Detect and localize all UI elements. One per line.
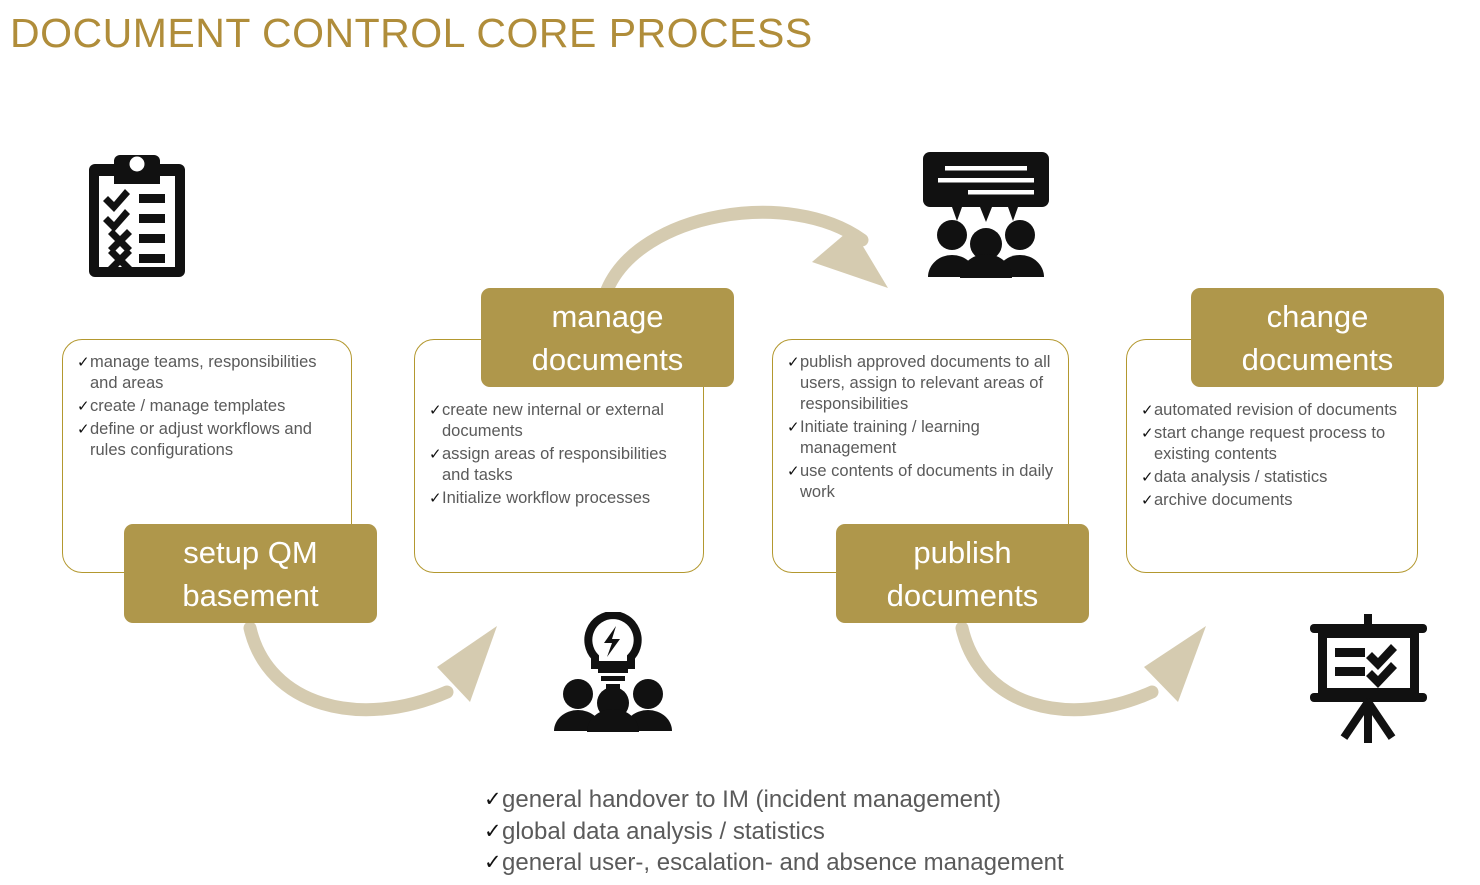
list-item-label: automated revision of documents [1154,401,1397,419]
list-item: ✓ define or adjust workflows and rules c… [77,419,341,461]
list-item: ✓ general user-, escalation- and absence… [484,847,1064,879]
check-icon: ✓ [1141,490,1154,511]
list-item: ✓ Initialize workflow processes [429,488,693,509]
stage-badge-publish-documents[interactable]: publish documents [836,524,1089,623]
list-item: ✓ general handover to IM (incident manag… [484,784,1064,816]
badge-label-line1: manage [532,295,684,338]
check-icon: ✓ [1141,423,1154,444]
list-item: ✓ start change request process to existi… [1141,423,1407,465]
list-item-label: use contents of documents in daily work [800,462,1053,501]
arrow-manage-to-publish [607,212,888,290]
clipboard-checklist-icon [86,150,188,280]
badge-label-line1: setup QM [182,531,318,574]
stage-badge-setup-qm-basement[interactable]: setup QM basement [124,524,377,623]
check-icon: ✓ [429,400,442,421]
arrow-publish-to-change [962,626,1206,710]
list-item-label: manage teams, responsibilities and areas [90,353,317,392]
stage-2-bullet-list: ✓ create new internal or external docume… [429,400,693,511]
list-item: ✓ automated revision of documents [1141,400,1407,421]
check-icon: ✓ [484,816,502,848]
check-icon: ✓ [429,444,442,465]
stage-badge-manage-documents[interactable]: manage documents [481,288,734,387]
list-item-label: data analysis / statistics [1154,468,1327,486]
check-icon: ✓ [787,352,800,373]
list-item-label: archive documents [1154,491,1293,509]
page-title: DOCUMENT CONTROL CORE PROCESS [10,8,813,58]
presentation-board-checklist-icon [1302,610,1435,745]
list-item-label: global data analysis / statistics [502,818,825,845]
list-item-label: Initiate training / learning management [800,418,980,457]
list-item-label: start change request process to existing… [1154,424,1385,463]
stage-badge-change-documents[interactable]: change documents [1191,288,1444,387]
list-item: ✓ create new internal or external docume… [429,400,693,442]
list-item: ✓ assign areas of responsibilities and t… [429,444,693,486]
arrow-setup-to-manage [250,626,497,710]
stage-4-bullet-list: ✓ automated revision of documents ✓ star… [1141,400,1407,513]
check-icon: ✓ [484,784,502,816]
list-item: ✓ create / manage templates [77,396,341,417]
badge-label-line1: change [1242,295,1394,338]
list-item-label: define or adjust workflows and rules con… [90,420,312,459]
list-item: ✓ manage teams, responsibilities and are… [77,352,341,394]
list-item-label: general user-, escalation- and absence m… [502,849,1064,876]
check-icon: ✓ [429,488,442,509]
stage-3-bullet-list: ✓ publish approved documents to all user… [787,352,1058,505]
footer-bullet-list: ✓ general handover to IM (incident manag… [484,784,1064,879]
list-item: ✓ global data analysis / statistics [484,816,1064,848]
badge-label-line1: publish [887,531,1039,574]
badge-label-line2: documents [532,338,684,381]
list-item-label: create / manage templates [90,397,285,415]
list-item-label: general handover to IM (incident managem… [502,786,1001,813]
badge-label-line2: basement [182,574,318,617]
check-icon: ✓ [1141,467,1154,488]
presentation-meeting-people-icon [920,150,1052,278]
slide-canvas: DOCUMENT CONTROL CORE PROCESS [0,0,1480,885]
list-item-label: assign areas of responsibilities and tas… [442,445,667,484]
list-item: ✓ publish approved documents to all user… [787,352,1058,415]
check-icon: ✓ [77,396,90,417]
list-item-label: Initialize workflow processes [442,489,650,507]
list-item: ✓ use contents of documents in daily wor… [787,461,1058,503]
badge-label-line2: documents [887,574,1039,617]
stage-1-bullet-list: ✓ manage teams, responsibilities and are… [77,352,341,463]
list-item-label: publish approved documents to all users,… [800,353,1050,413]
check-icon: ✓ [484,847,502,879]
check-icon: ✓ [1141,400,1154,421]
lightbulb-idea-people-icon [550,612,677,732]
badge-label-line2: documents [1242,338,1394,381]
list-item: ✓ data analysis / statistics [1141,467,1407,488]
check-icon: ✓ [77,352,90,373]
check-icon: ✓ [787,417,800,438]
check-icon: ✓ [77,419,90,440]
list-item: ✓ archive documents [1141,490,1407,511]
check-icon: ✓ [787,461,800,482]
list-item-label: create new internal or external document… [442,401,664,440]
list-item: ✓ Initiate training / learning managemen… [787,417,1058,459]
